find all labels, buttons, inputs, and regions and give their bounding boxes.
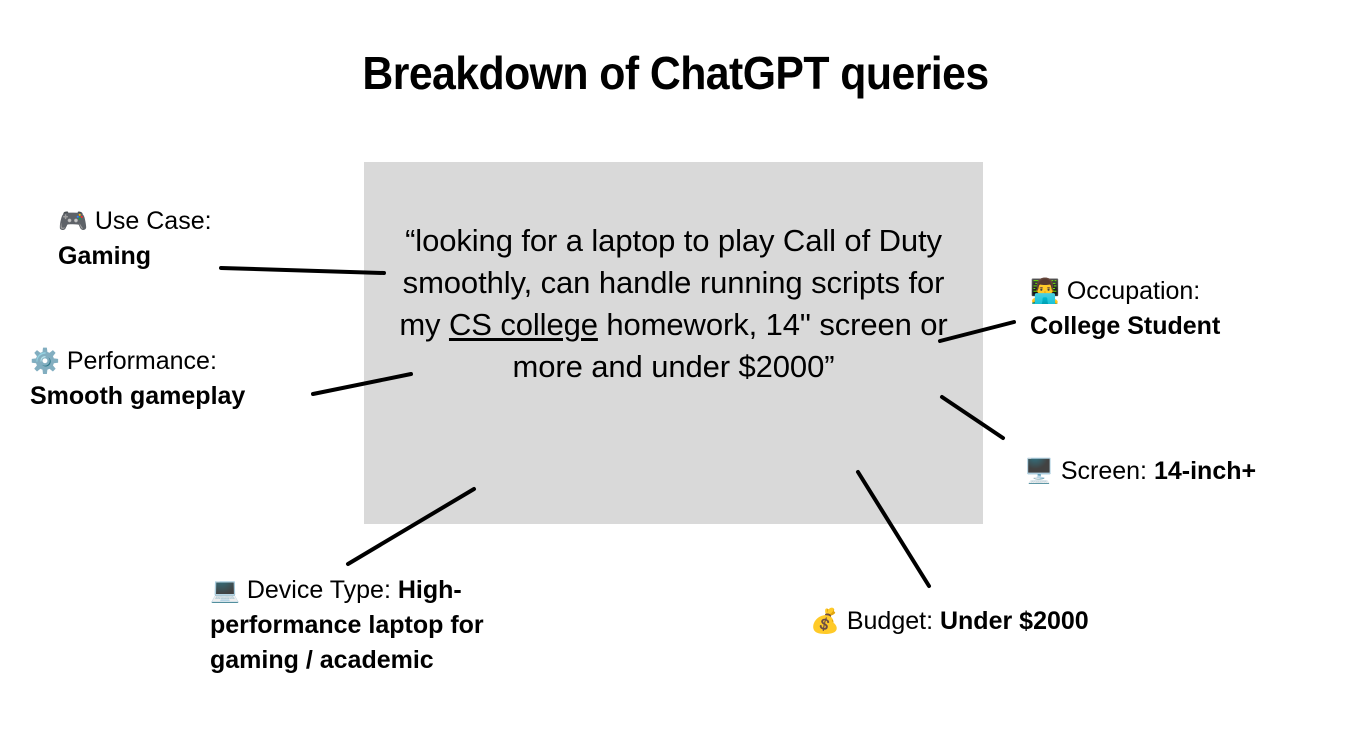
callout-use-case: 🎮 Use Case: Gaming <box>58 204 358 274</box>
callout-screen-label: Screen: <box>1061 457 1147 485</box>
money-bag-icon: 💰 <box>810 608 840 635</box>
callout-device-type: 💻 Device Type: High-performance laptop f… <box>210 573 565 678</box>
gear-icon: ⚙️ <box>30 348 60 375</box>
callout-budget-value: Under $2000 <box>940 607 1089 635</box>
desktop-monitor-icon: 🖥️ <box>1024 458 1054 485</box>
page-title: Breakdown of ChatGPT queries <box>47 46 1303 101</box>
callout-screen: 🖥️ Screen: 14-inch+ <box>1024 454 1344 489</box>
callout-screen-value: 14-inch+ <box>1154 457 1256 485</box>
quote-underlined-term: CS college <box>449 307 598 342</box>
callout-use-case-value: Gaming <box>58 242 151 270</box>
callout-occupation-label: Occupation: <box>1067 277 1200 305</box>
callout-performance: ⚙️ Performance: Smooth gameplay <box>30 344 350 414</box>
callout-performance-label: Performance: <box>67 347 217 375</box>
person-at-computer-icon: 👨‍💻 <box>1030 278 1060 305</box>
callout-use-case-label: Use Case: <box>95 207 212 235</box>
callout-budget: 💰 Budget: Under $2000 <box>810 604 1230 639</box>
laptop-icon: 💻 <box>210 577 240 604</box>
callout-occupation-value: College Student <box>1030 312 1220 340</box>
quote-text: “looking for a laptop to play Call of Du… <box>384 220 963 388</box>
callout-occupation: 👨‍💻 Occupation: College Student <box>1030 274 1340 344</box>
quote-close-mark: ” <box>824 349 834 384</box>
callout-budget-label: Budget: <box>847 607 933 635</box>
slide-canvas: Breakdown of ChatGPT queries “looking fo… <box>0 0 1351 742</box>
callout-performance-value: Smooth gameplay <box>30 382 245 410</box>
quote-open-mark: “ <box>405 223 415 258</box>
callout-device-type-label: Device Type: <box>247 576 391 604</box>
quote-box: “looking for a laptop to play Call of Du… <box>364 162 983 524</box>
video-game-controller-icon: 🎮 <box>58 208 88 235</box>
